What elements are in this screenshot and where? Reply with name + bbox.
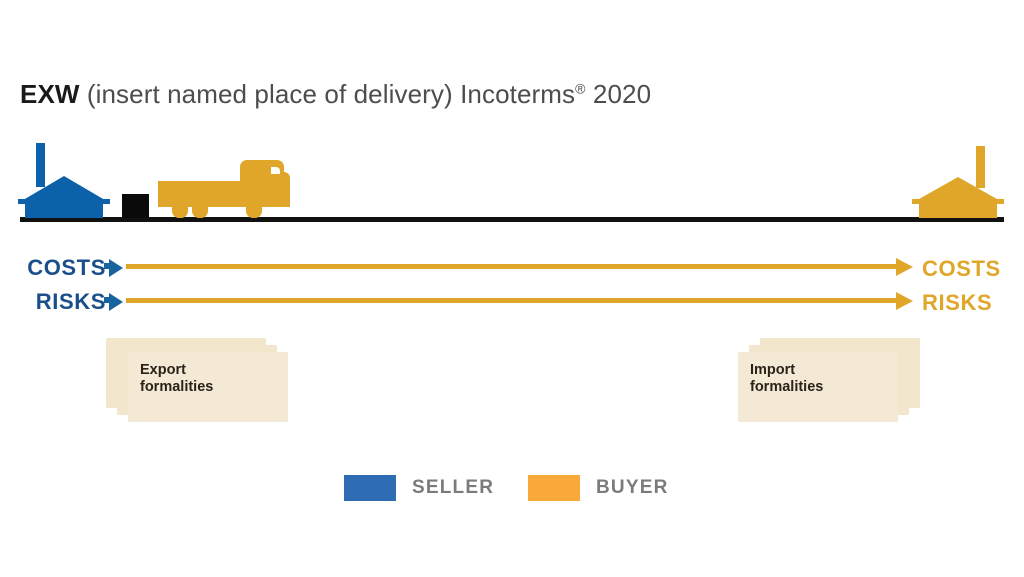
costs-flow-line (126, 264, 898, 269)
truck-window (271, 167, 280, 174)
incoterm-year: 2020 (586, 79, 652, 109)
risks-right-label: RISKS (922, 290, 992, 316)
registered-mark: ® (575, 80, 585, 96)
import-formalities-stack: Import formalities (738, 338, 938, 428)
risks-start-arrow-icon (109, 293, 123, 311)
risks-left-label-wrap: RISKS (14, 289, 106, 315)
import-formalities-label: Import formalities (750, 362, 823, 396)
incoterm-description: (insert named place of delivery) Incoter… (80, 79, 576, 109)
factory-body (25, 201, 103, 218)
legend-item-buyer: BUYER (528, 474, 669, 502)
risks-flow-row: RISKS RISKS (0, 288, 1024, 318)
cargo-box-icon (122, 194, 149, 218)
seller-factory-icon (18, 143, 110, 218)
costs-right-label: COSTS (922, 256, 1001, 282)
legend-label-buyer: BUYER (596, 477, 669, 499)
truck-icon (158, 160, 290, 218)
risks-end-arrow-icon (896, 292, 913, 310)
legend-swatch-seller (344, 475, 396, 501)
incoterm-code: EXW (20, 79, 80, 109)
legend-label-seller: SELLER (412, 477, 494, 499)
legend-item-seller: SELLER (344, 474, 494, 502)
legend-swatch-buyer (528, 475, 580, 501)
buyer-factory-icon (912, 146, 1004, 218)
costs-flow-row: COSTS COSTS (0, 254, 1024, 284)
page-title: EXW (insert named place of delivery) Inc… (20, 79, 651, 110)
export-formalities-label: Export formalities (140, 362, 213, 396)
risks-flow-line (126, 298, 898, 303)
costs-left-label-wrap: COSTS (14, 255, 106, 281)
truck-wheel (172, 205, 188, 218)
factory-body (919, 201, 997, 218)
export-formalities-stack: Export formalities (106, 338, 306, 428)
incoterms-diagram: EXW (insert named place of delivery) Inc… (0, 0, 1024, 577)
truck-hood (266, 172, 290, 188)
truck-wheel (246, 205, 262, 218)
truck-wheel (192, 205, 208, 218)
costs-left-label: COSTS (27, 255, 106, 281)
costs-end-arrow-icon (896, 258, 913, 276)
risks-left-label: RISKS (36, 289, 106, 315)
costs-start-arrow-icon (109, 259, 123, 277)
